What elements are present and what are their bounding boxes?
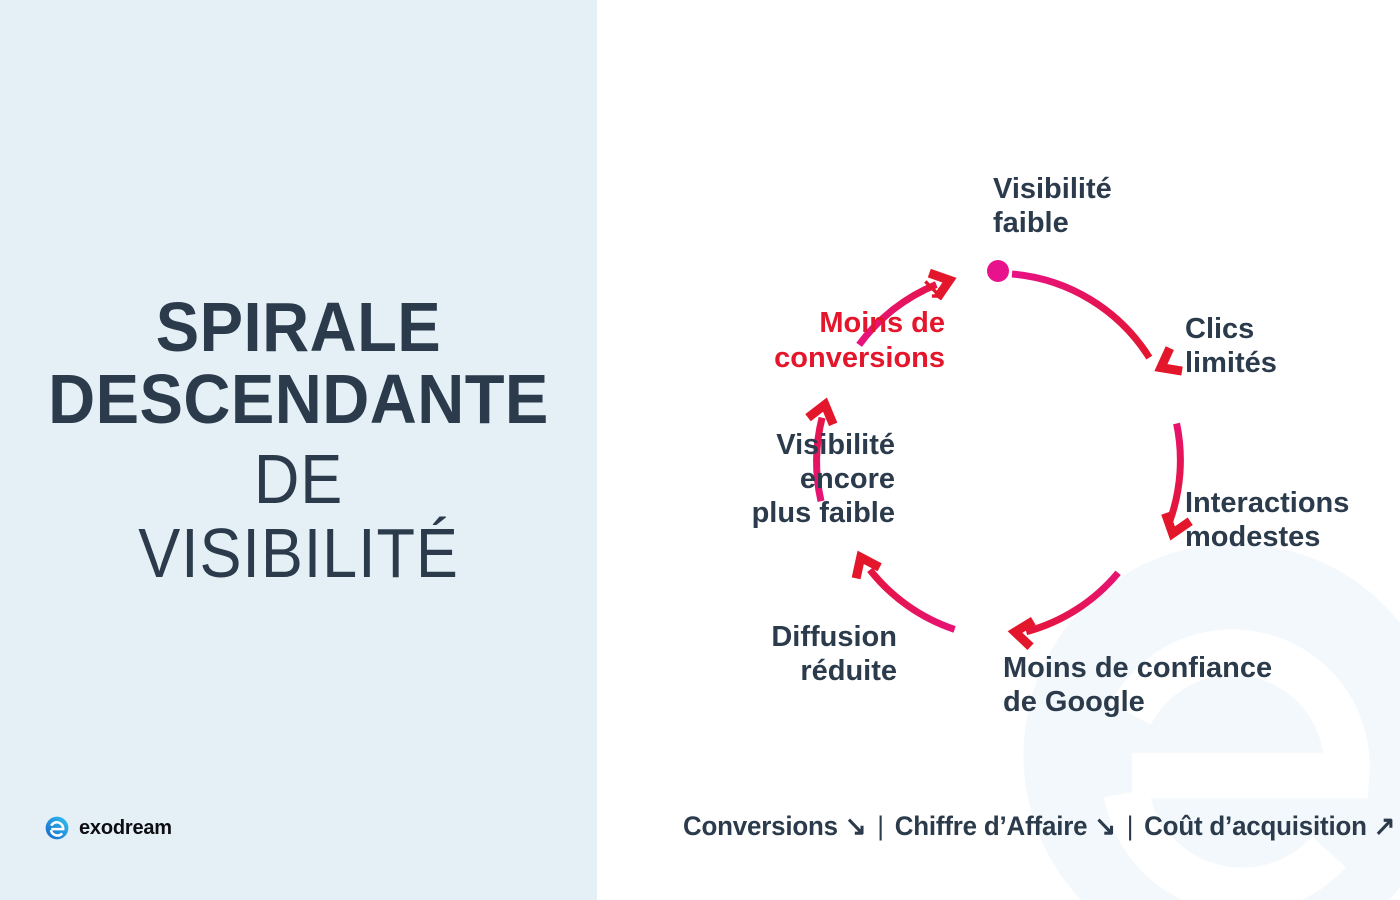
cycle-callout-label: Moins de conversions <box>774 307 945 373</box>
trend-down-icon: ↘ <box>921 273 945 305</box>
left-title-panel: SPIRALE DESCENDANTE DE VISIBILITÉ exodre… <box>0 0 597 900</box>
title-line-4: VISIBILITÉ <box>30 518 567 588</box>
metric-chiffre-affaire-label: Chiffre d’Affaire <box>895 811 1088 841</box>
cycle-node-interactions-modestes: Interactions modestes <box>1185 486 1349 554</box>
title-line-3: DE <box>30 444 567 514</box>
cycle-start-dot-icon <box>987 260 1009 282</box>
cycle-arc-1 <box>1012 274 1149 358</box>
title-line-1: SPIRALE <box>21 292 576 362</box>
title-line-2: DESCENDANTE <box>21 364 576 434</box>
metric-chiffre-affaire-trend-icon: ↘ <box>1094 811 1116 841</box>
infographic-canvas: SPIRALE DESCENDANTE DE VISIBILITÉ exodre… <box>0 0 1400 900</box>
brand-logo-text: exodream <box>79 817 172 840</box>
cycle-node-visibilite-encore-plus-faible: Visibilité encore plus faible <box>673 428 895 531</box>
page-title: SPIRALE DESCENDANTE DE VISIBILITÉ <box>0 292 597 588</box>
cycle-arc-2 <box>1170 424 1181 522</box>
cycle-node-confiance-google: Moins de confiance de Google <box>1003 651 1272 719</box>
cycle-node-visibilite-faible: Visibilité faible <box>993 172 1112 240</box>
cycle-arc-3 <box>1026 573 1118 632</box>
metric-conversions-label: Conversions <box>683 811 838 841</box>
footer-metrics: Conversions ↘ | Chiffre d’Affaire ↘ | Co… <box>683 811 1395 842</box>
cycle-callout-moins-de-conversions: ↘ Moins de conversions <box>673 238 945 375</box>
cycle-node-clics-limites: Clics limités <box>1185 312 1277 380</box>
metric-cout-acquisition-trend-icon: ↗ <box>1374 811 1396 841</box>
exodream-e-circle-icon <box>44 815 70 841</box>
metric-conversions-trend-icon: ↘ <box>845 811 867 841</box>
brand-logo[interactable]: exodream <box>44 815 172 841</box>
metric-separator-1: | <box>873 811 887 841</box>
metric-separator-2: | <box>1123 811 1137 841</box>
cycle-node-diffusion-reduite: Diffusion réduite <box>752 620 897 688</box>
right-diagram-panel: Visibilité faible Clics limités Interact… <box>597 0 1400 900</box>
metric-cout-acquisition-label: Coût d’acquisition <box>1144 811 1367 841</box>
